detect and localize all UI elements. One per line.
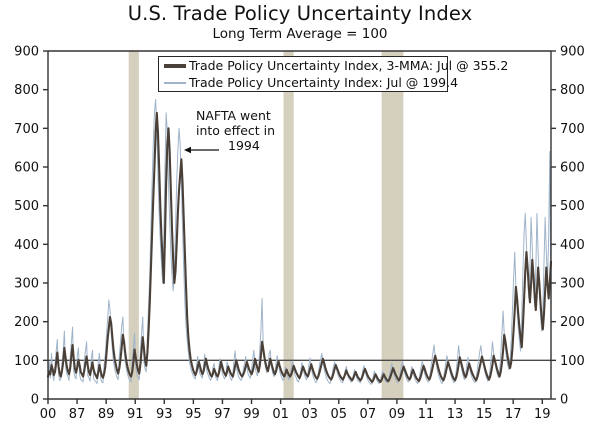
svg-text:900: 900 [560,45,585,60]
chart-legend: Trade Policy Uncertainty Index, 3-MMA: J… [158,56,448,92]
svg-text:800: 800 [560,83,585,98]
svg-text:500: 500 [14,199,39,214]
svg-text:0: 0 [31,393,39,408]
svg-text:11: 11 [418,407,435,422]
svg-text:600: 600 [560,161,585,176]
nafta-annotation-line1: NAFTA went [196,108,275,123]
svg-text:100: 100 [560,354,585,369]
svg-text:400: 400 [14,238,39,253]
svg-text:87: 87 [69,407,86,422]
svg-text:93: 93 [156,407,173,422]
legend-label-index: Trade Policy Uncertainty Index: Jul @ 19… [189,76,458,89]
svg-text:800: 800 [14,83,39,98]
nafta-annotation-line2: into effect in [196,123,275,138]
svg-text:13: 13 [447,407,464,422]
svg-text:500: 500 [560,199,585,214]
svg-text:700: 700 [14,122,39,137]
svg-text:700: 700 [560,122,585,137]
svg-text:91: 91 [127,407,144,422]
svg-text:05: 05 [330,407,347,422]
svg-text:0: 0 [560,393,568,408]
legend-swatch-index-icon [164,82,186,84]
nafta-annotation-line3: 1994 [228,138,275,153]
legend-item-index: Trade Policy Uncertainty Index: Jul @ 19… [159,74,447,91]
svg-text:00: 00 [40,407,57,422]
svg-text:07: 07 [360,407,377,422]
svg-text:03: 03 [301,407,318,422]
svg-text:600: 600 [14,161,39,176]
svg-text:17: 17 [505,407,522,422]
series-lines [48,99,551,384]
svg-text:300: 300 [14,277,39,292]
legend-label-3mma: Trade Policy Uncertainty Index, 3-MMA: J… [189,59,508,72]
svg-text:400: 400 [560,238,585,253]
svg-text:97: 97 [214,407,231,422]
nafta-annotation: NAFTA went into effect in 1994 [196,108,275,153]
svg-text:01: 01 [272,407,289,422]
svg-text:300: 300 [560,277,585,292]
svg-text:15: 15 [476,407,493,422]
svg-text:09: 09 [389,407,406,422]
svg-text:100: 100 [14,354,39,369]
legend-swatch-3mma-icon [164,64,186,68]
legend-item-3mma: Trade Policy Uncertainty Index, 3-MMA: J… [159,57,447,74]
svg-text:200: 200 [14,315,39,330]
svg-text:19: 19 [534,407,551,422]
svg-text:95: 95 [185,407,202,422]
chart-container: U.S. Trade Policy Uncertainty Index Long… [0,0,600,425]
svg-text:200: 200 [560,315,585,330]
svg-text:900: 900 [14,45,39,60]
svg-text:89: 89 [98,407,115,422]
svg-text:99: 99 [243,407,260,422]
